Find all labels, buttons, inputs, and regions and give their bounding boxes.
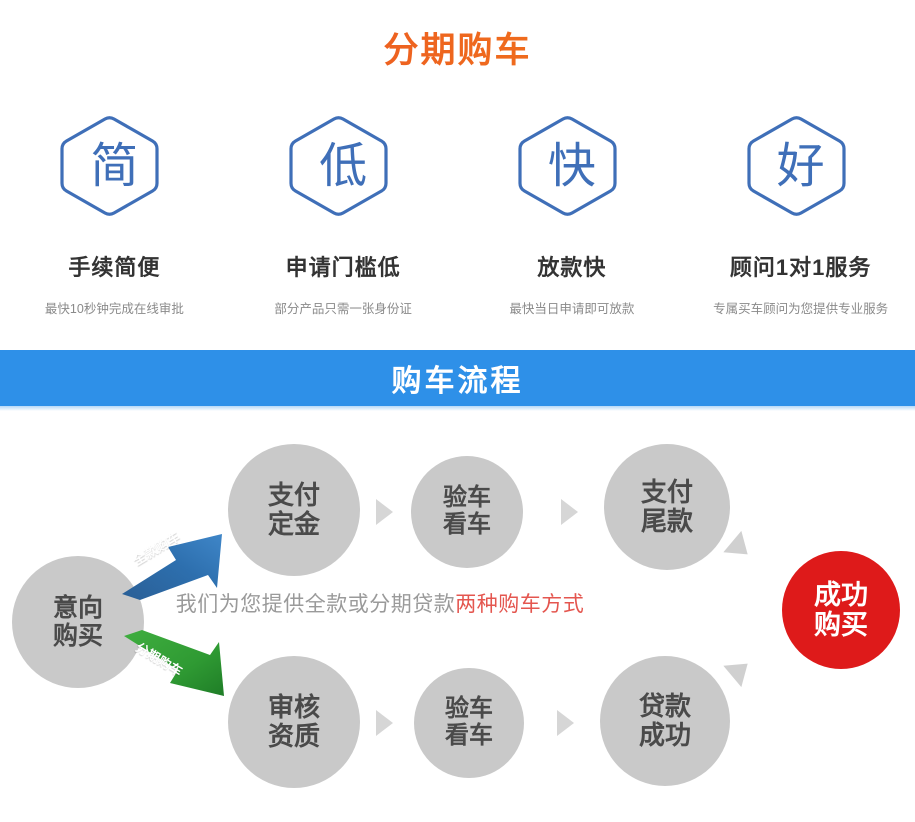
- flow-arrow-triangle-icon: [557, 710, 574, 736]
- feature-title: 申请门槛低: [286, 250, 401, 282]
- feature-card-fast-loan: 快 放款快 最快当日申请即可放款: [458, 112, 687, 317]
- flow-node-review-qualification: 审核 资质: [228, 656, 360, 788]
- feature-subtitle: 最快当日申请即可放款: [509, 298, 634, 317]
- flow-node-line2: 尾款: [641, 507, 693, 536]
- feature-title: 放款快: [537, 250, 606, 282]
- flow-node-success: 成功 购买: [782, 551, 900, 669]
- feature-list: 简 手续简便 最快10秒钟完成在线审批 低 申请门槛低 部分产品只需一张身份证 …: [0, 112, 915, 317]
- flow-node-line1: 支付: [268, 481, 320, 510]
- hexagon-outline-icon: 低: [289, 112, 397, 220]
- flow-center-note: 我们为您提供全款或分期贷款两种购车方式: [0, 588, 760, 618]
- flow-node-line2: 看车: [443, 512, 491, 539]
- flow-node-line2: 看车: [445, 723, 493, 750]
- hexagon-outline-icon: 好: [747, 112, 855, 220]
- flow-node-line1: 贷款: [639, 692, 691, 721]
- feature-card-advisor: 好 顾问1对1服务 专属买车顾问为您提供专业服务: [686, 112, 915, 317]
- flow-arrow-triangle-diagonal-icon: [723, 653, 756, 687]
- flow-node-line1: 成功: [814, 580, 868, 610]
- feature-card-simple: 简 手续简便 最快10秒钟完成在线审批: [0, 112, 229, 317]
- page-title: 分期购车: [0, 22, 915, 73]
- flow-node-inspect-car-top: 验车 看车: [411, 456, 523, 568]
- banner-title: 购车流程: [392, 356, 524, 400]
- feature-glyph: 好: [777, 142, 825, 190]
- section-banner-process: 购车流程: [0, 350, 915, 406]
- flow-node-inspect-car-bottom: 验车 看车: [414, 668, 524, 778]
- flow-center-note-plain: 我们为您提供全款或分期贷款: [176, 593, 456, 616]
- feature-title: 顾问1对1服务: [730, 250, 871, 282]
- flow-node-pay-balance: 支付 尾款: [604, 444, 730, 570]
- feature-subtitle: 部分产品只需一张身份证: [274, 298, 412, 317]
- flow-arrow-triangle-icon: [561, 499, 578, 525]
- flow-node-line2: 定金: [268, 510, 320, 539]
- flow-arrow-triangle-icon: [376, 499, 393, 525]
- purchase-flow-diagram: 意向 购买 全款购车: [0, 406, 915, 822]
- flow-node-line1: 审核: [268, 693, 320, 722]
- flow-center-note-highlight: 两种购车方式: [455, 593, 584, 616]
- flow-node-line1: 验车: [443, 485, 491, 512]
- feature-glyph: 快: [548, 142, 596, 190]
- flow-node-line2: 成功: [639, 721, 691, 750]
- feature-subtitle: 最快10秒钟完成在线审批: [45, 298, 184, 317]
- flow-node-line1: 验车: [445, 696, 493, 723]
- flow-node-loan-approved: 贷款 成功: [600, 656, 730, 786]
- flow-arrow-triangle-diagonal-icon: [723, 531, 756, 565]
- feature-glyph: 低: [319, 142, 367, 190]
- flow-node-pay-deposit: 支付 定金: [228, 444, 360, 576]
- feature-glyph: 简: [90, 142, 138, 190]
- feature-title: 手续简便: [68, 250, 160, 282]
- flow-arrow-triangle-icon: [376, 710, 393, 736]
- flow-node-line2: 购买: [814, 610, 868, 640]
- flow-node-line2: 资质: [268, 722, 320, 751]
- hexagon-outline-icon: 快: [518, 112, 626, 220]
- hexagon-outline-icon: 简: [60, 112, 168, 220]
- feature-subtitle: 专属买车顾问为您提供专业服务: [713, 298, 888, 317]
- flow-node-line1: 支付: [641, 478, 693, 507]
- feature-card-low-threshold: 低 申请门槛低 部分产品只需一张身份证: [229, 112, 458, 317]
- flow-node-line2: 购买: [53, 622, 103, 650]
- promo-page: 分期购车 简 手续简便 最快10秒钟完成在线审批 低 申请门槛低 部分产品只需一…: [0, 0, 915, 822]
